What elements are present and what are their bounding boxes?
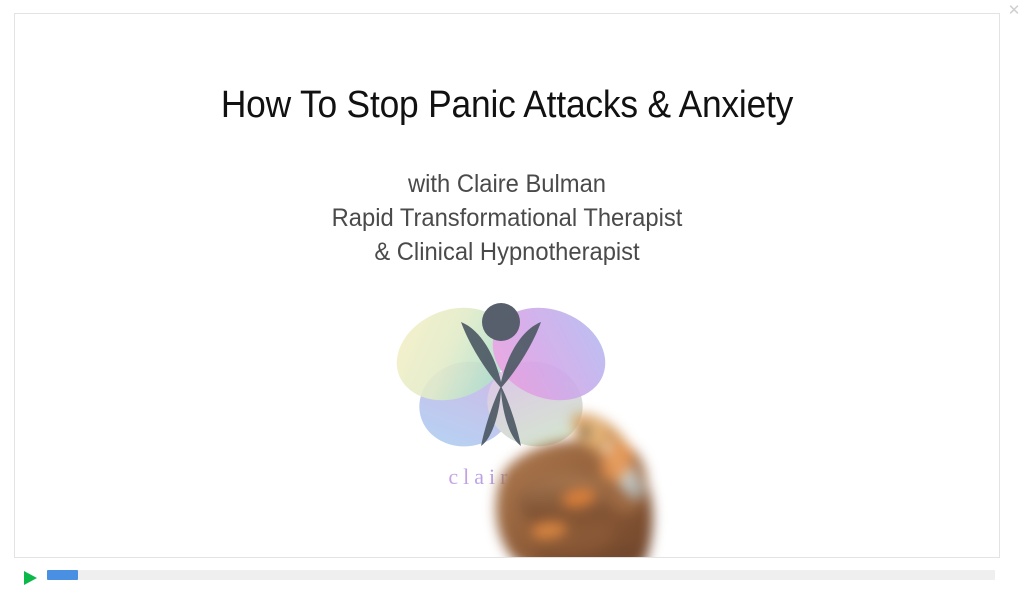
butterfly-logo-icon <box>381 296 621 466</box>
play-icon[interactable] <box>22 570 38 586</box>
slide-subtitle: with Claire Bulman Rapid Transformationa… <box>40 167 975 269</box>
logo-head-circle <box>482 303 520 341</box>
logo-wordmark: claire b <box>381 464 621 490</box>
subtitle-line-2: Rapid Transformational Therapist <box>40 201 975 235</box>
progress-bar-track[interactable] <box>47 570 995 580</box>
close-icon[interactable]: ✕ <box>1004 0 1024 20</box>
subtitle-line-1: with Claire Bulman <box>40 167 975 201</box>
slide-canvas[interactable]: How To Stop Panic Attacks & Anxiety with… <box>14 13 1000 558</box>
slide-title: How To Stop Panic Attacks & Anxiety <box>49 86 964 126</box>
presentation-viewer: ✕ How To Stop Panic Attacks & Anxiety wi… <box>0 0 1024 594</box>
progress-bar-fill <box>47 570 78 580</box>
subtitle-line-3: & Clinical Hypnotherapist <box>40 235 975 269</box>
brand-logo: claire b <box>381 296 621 506</box>
